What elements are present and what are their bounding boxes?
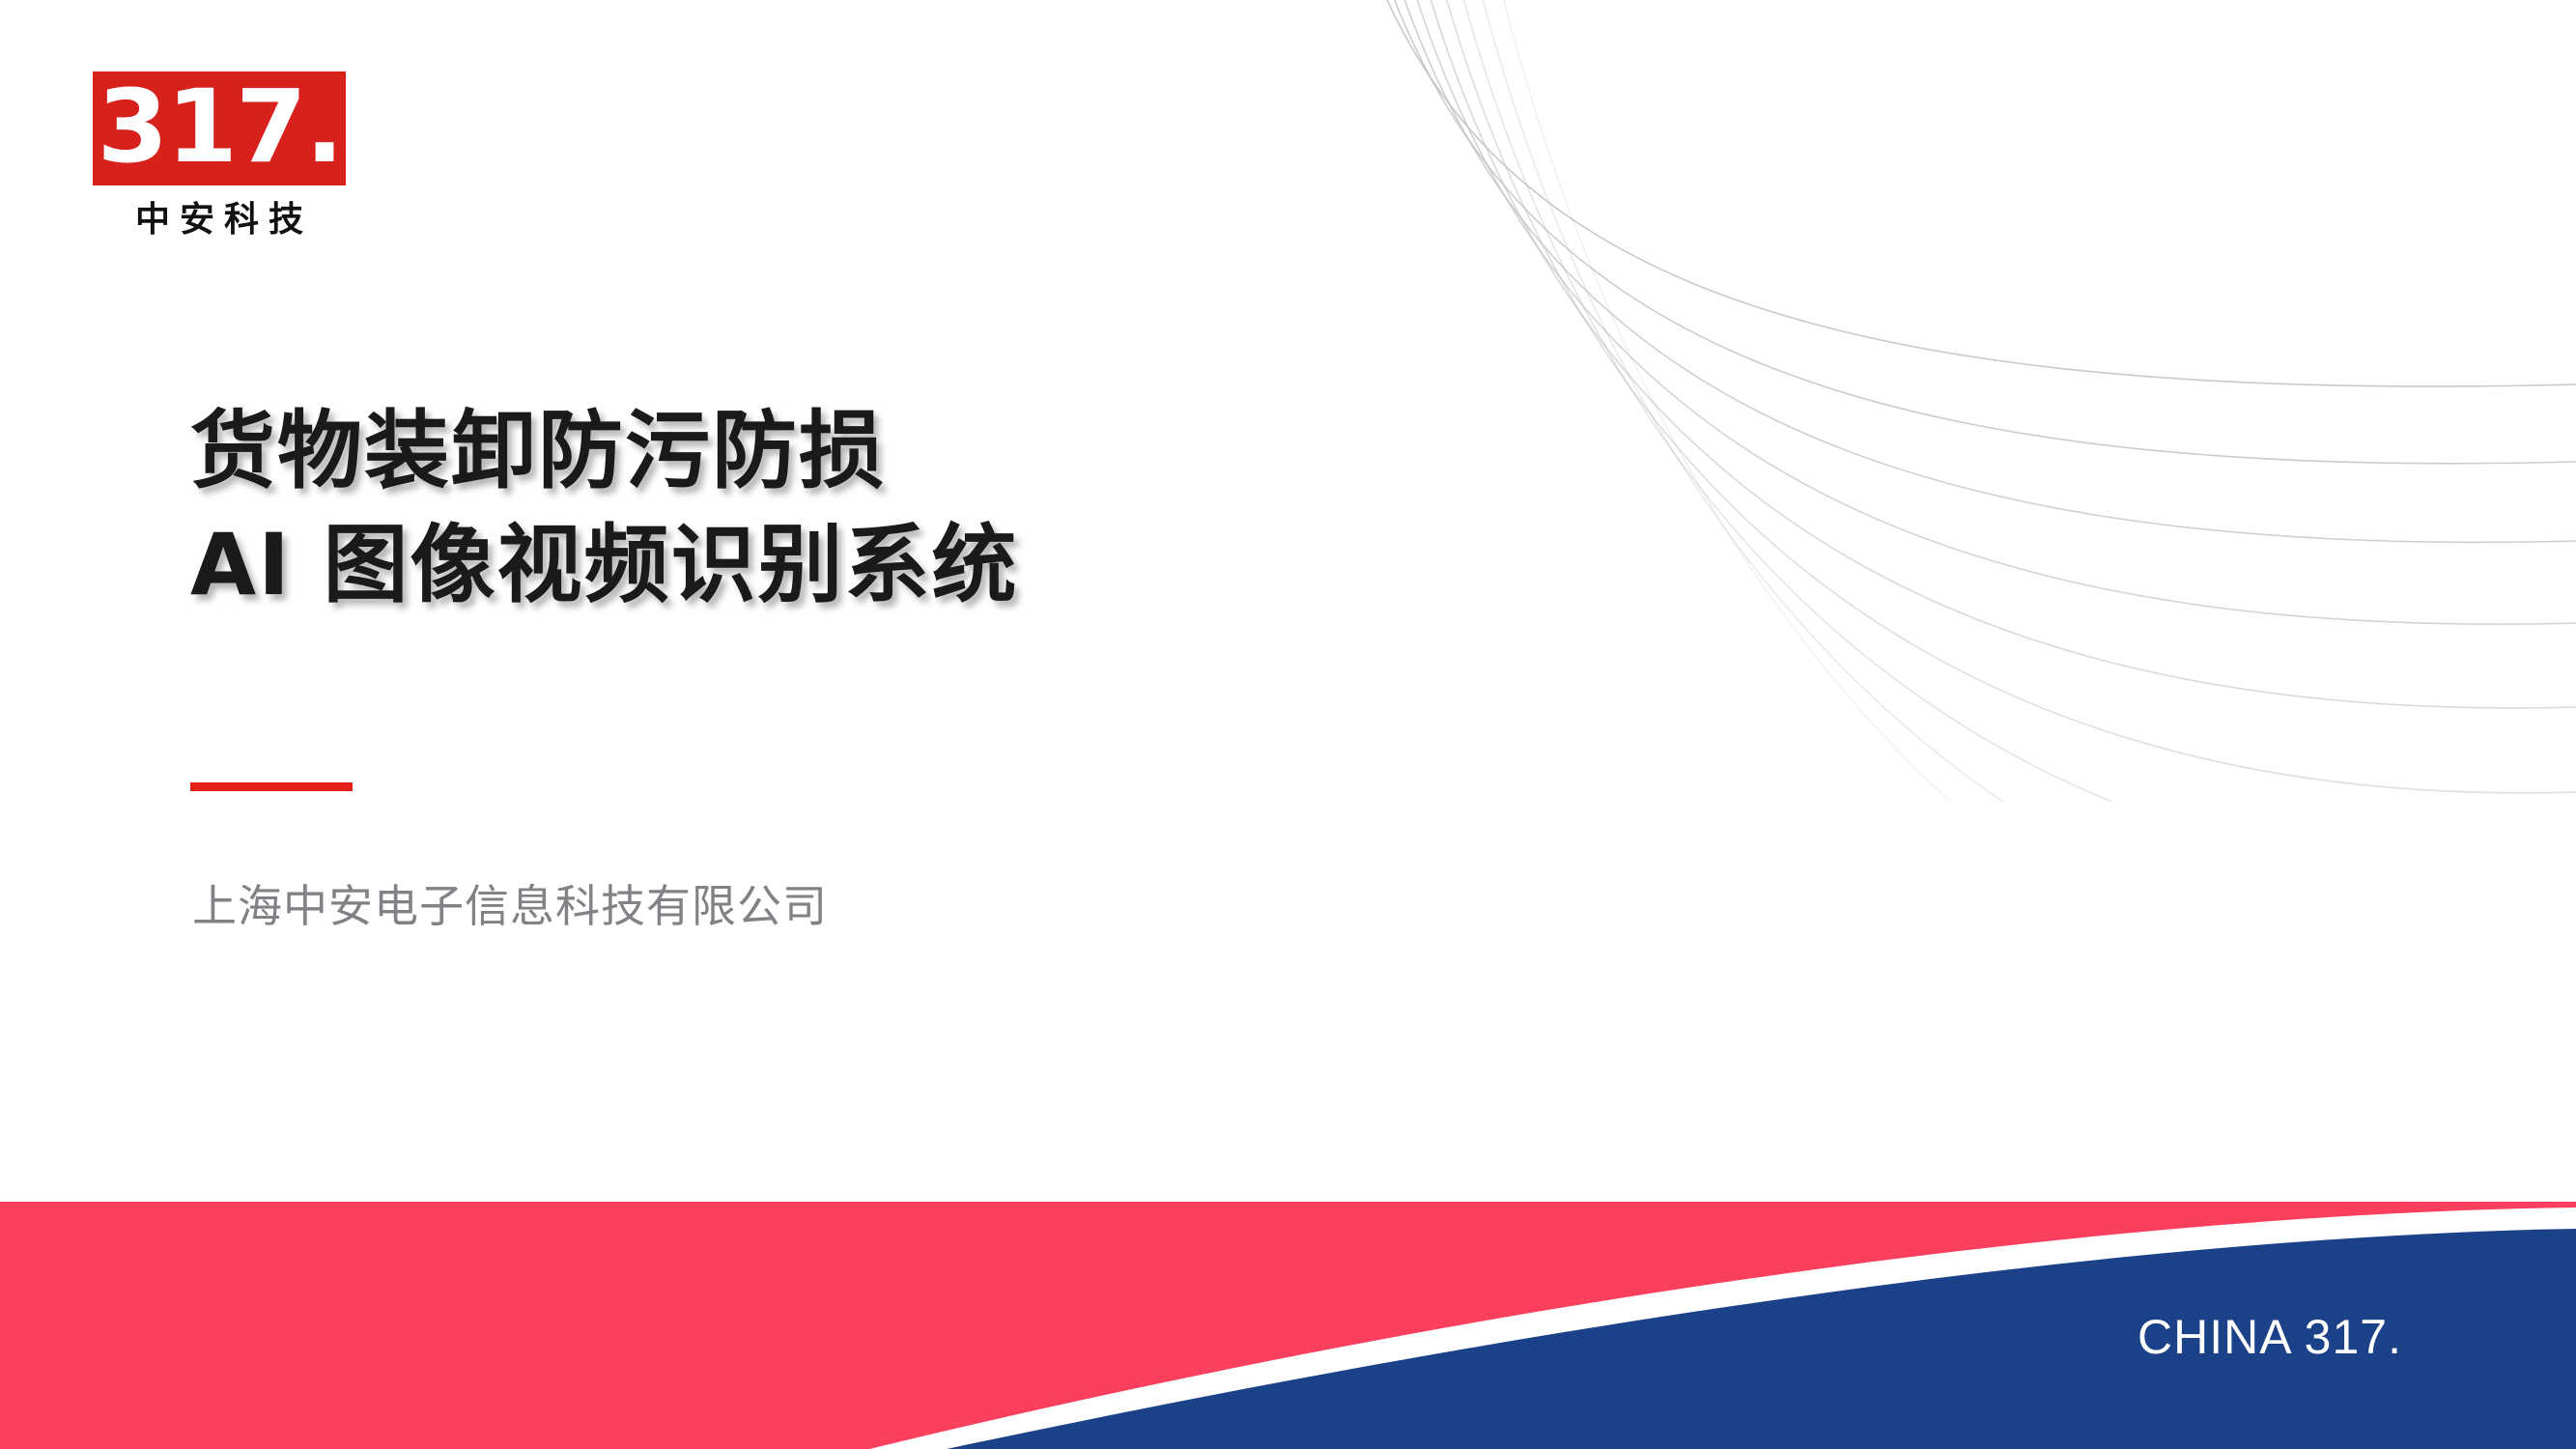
title-line-2: AI 图像视频识别系统: [190, 508, 1639, 622]
logo-mark: 317.: [93, 71, 346, 185]
logo-subtext: 中安科技: [93, 201, 346, 240]
title-divider: [190, 782, 353, 791]
logo-mark-text: 317.: [97, 76, 342, 177]
title-line-1: 货物装卸防污防损: [190, 394, 1639, 508]
cover-slide: 317. 中安科技 货物装卸防污防损 AI 图像视频识别系统 上海中安电子信息科…: [0, 0, 2576, 1449]
company-logo: 317. 中安科技: [93, 71, 346, 240]
page-title: 货物装卸防污防损 AI 图像视频识别系统: [190, 394, 1639, 622]
bottom-banner: CHINA 317.: [0, 1202, 2576, 1449]
company-name-subtitle: 上海中安电子信息科技有限公司: [192, 877, 828, 935]
banner-label: CHINA 317.: [2137, 1310, 2402, 1364]
